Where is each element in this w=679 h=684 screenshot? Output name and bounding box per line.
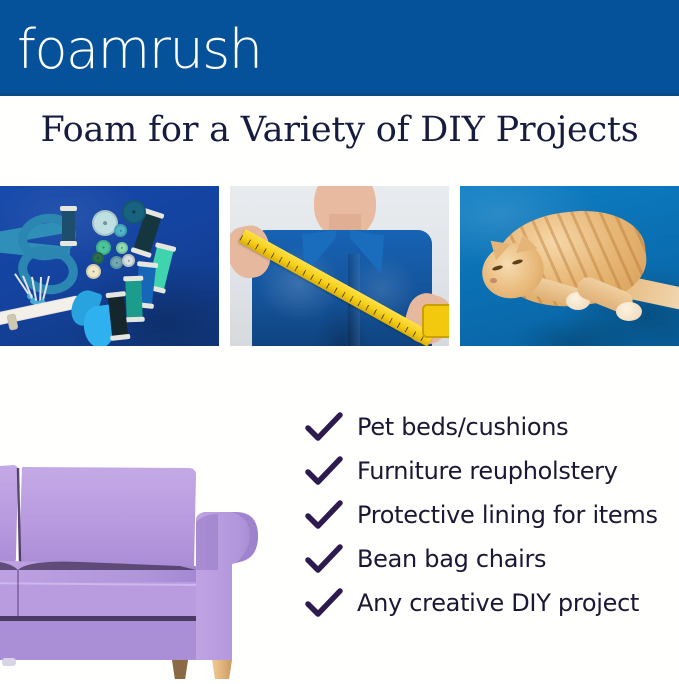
brand-logo: foamrush	[17, 20, 262, 80]
thread-spool	[125, 278, 142, 321]
sofa-skirt	[0, 616, 210, 660]
sofa-seat-cushion	[0, 582, 205, 616]
benefit-label: Any creative DIY project	[357, 589, 639, 617]
sewing-supplies-photo	[0, 186, 219, 346]
benefit-label: Pet beds/cushions	[357, 413, 568, 441]
sofa-back-cushion-right	[19, 467, 196, 572]
sofa-leg-rear	[172, 660, 188, 679]
brand-banner: foamrush	[0, 0, 679, 96]
button-disc	[110, 256, 123, 269]
button-disc	[92, 252, 104, 264]
check-icon	[305, 500, 343, 530]
sofa-back-seam	[18, 468, 20, 562]
button-disc	[114, 224, 127, 237]
button-disc	[122, 254, 135, 267]
benefit-label: Protective lining for items	[357, 501, 658, 529]
tape-measure-case	[422, 304, 449, 338]
button-disc	[86, 264, 101, 279]
sofa-back-cushion-left	[0, 465, 18, 568]
list-item: Furniture reupholstery	[305, 450, 675, 491]
button-disc	[116, 242, 128, 254]
check-icon	[305, 456, 343, 486]
tape-measure-photo	[230, 186, 449, 346]
cat-hind-paw	[616, 302, 642, 321]
benefit-label: Furniture reupholstery	[357, 457, 618, 485]
benefit-label: Bean bag chairs	[357, 545, 546, 573]
page-headline: Foam for a Variety of DIY Projects	[0, 108, 679, 152]
sofa-svg	[0, 430, 300, 679]
thread-spool	[62, 208, 75, 244]
list-item: Any creative DIY project	[305, 582, 675, 623]
button-disc	[122, 200, 146, 224]
sofa-arm-right-inner-shadow	[196, 514, 218, 570]
list-item: Bean bag chairs	[305, 538, 675, 579]
list-item: Pet beds/cushions	[305, 406, 675, 447]
sofa-skirt-top-shadow	[0, 616, 210, 621]
photo-strip	[0, 186, 679, 346]
benefit-list: Pet beds/cushions Furniture reupholstery…	[305, 406, 675, 626]
check-icon	[305, 588, 343, 618]
cat-on-cushion-photo	[460, 186, 679, 346]
cat-nose	[490, 278, 497, 283]
list-item: Protective lining for items	[305, 494, 675, 535]
check-icon	[305, 412, 343, 442]
sofa-leg-left	[2, 658, 16, 666]
check-icon	[305, 544, 343, 574]
sofa-leg-front	[212, 660, 232, 679]
lavender-sofa-illustration	[0, 430, 300, 679]
